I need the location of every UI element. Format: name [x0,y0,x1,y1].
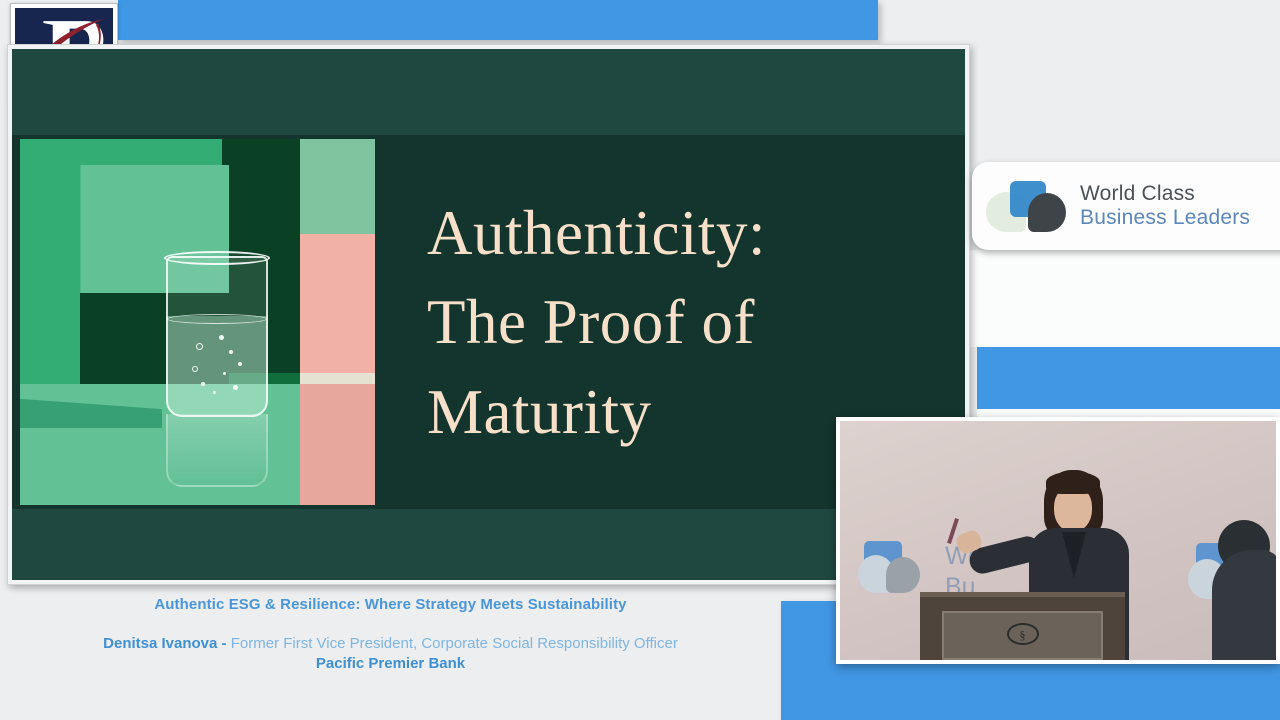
wcbl-line-2: Business Leaders [1080,206,1250,230]
speaker-video-feed[interactable]: World Bu § [840,421,1276,660]
podium-seal-icon: § [1007,623,1039,645]
wcbl-line-1: World Class [1080,182,1250,206]
blue-accent-bar-right [977,347,1280,409]
backdrop-logo-left-icon [858,541,930,599]
session-title: Authentic ESG & Resilience: Where Strate… [0,596,781,613]
caption-block: Authentic ESG & Resilience: Where Strate… [0,596,781,672]
speaker-line: Denitsa Ivanova - Former First Vice Pres… [0,635,781,652]
speaker-separator: - [217,635,230,652]
slide-title-line-2: The Proof of [427,278,897,367]
slide-illustration [20,139,375,505]
speaker-name: Denitsa Ivanova [103,635,217,652]
glass-of-water-icon [166,256,269,417]
slide-title: Authenticity: The Proof of Maturity [427,189,897,457]
presentation-stage: Authenticity: The Proof of Maturity Auth… [0,0,1280,720]
world-class-business-leaders-logo: World Class Business Leaders [972,162,1280,250]
speaker-video-panel[interactable]: World Bu § [836,417,1280,664]
speech-bubbles-icon [986,178,1068,234]
slide-content: Authenticity: The Proof of Maturity [12,49,965,580]
wcbl-wordmark: World Class Business Leaders [1080,182,1250,229]
audience-silhouette-body [1212,550,1276,660]
slide-title-line-3: Maturity [427,368,897,457]
glass-reflection [166,414,269,487]
speaker-role: Former First Vice President, Corporate S… [231,635,678,652]
speaker-company: Pacific Premier Bank [0,655,781,672]
white-panel-right [970,250,1280,347]
slide-frame: Authenticity: The Proof of Maturity [7,44,970,585]
podium: § [920,592,1125,660]
blue-accent-bar-top [118,0,878,40]
slide-title-line-1: Authenticity: [427,189,897,278]
